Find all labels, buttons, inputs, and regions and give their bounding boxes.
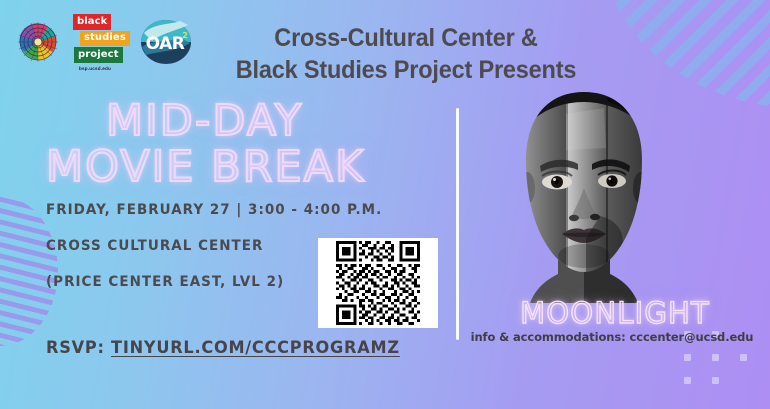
event-title-line-1: MID-DAY [44,100,444,144]
logo-row: black studies project bsp.ucsd.edu OAR 2 [12,14,192,71]
rsvp-qr-code[interactable] [318,238,438,328]
moonlight-poster-image [500,88,668,303]
svg-text:OAR: OAR [146,34,185,54]
page-title: Cross-Cultural Center & Black Studies Pr… [209,22,604,86]
header-line-1: Cross-Cultural Center & [209,22,604,54]
cross-cultural-center-logo [12,16,64,68]
bsp-url: bsp.ucsd.edu [79,66,111,71]
svg-text:2: 2 [182,31,188,40]
event-flyer: black studies project bsp.ucsd.edu OAR 2… [0,0,770,409]
film-title: MOONLIGHT [470,296,760,330]
portrait-illustration [500,88,668,303]
rsvp-line: RSVP: TINYURL.COM/CCCPROGRAMZ [46,338,400,358]
bsp-word-studies: studies [80,31,130,47]
vertical-divider [456,108,459,340]
event-title: MID-DAY MOVIE BREAK [44,100,444,190]
oar2-logo: OAR 2 [140,19,192,65]
accommodations-info: info & accommodations: cccenter@ucsd.edu [462,330,762,344]
event-title-line-2: MOVIE BREAK [44,146,444,190]
black-studies-project-logo: black studies project bsp.ucsd.edu [73,14,131,71]
bsp-word-black: black [73,14,111,30]
bsp-word-project: project [74,47,123,63]
header-line-2: Black Studies Project Presents [209,54,604,86]
event-datetime: FRIDAY, FEBRUARY 27 | 3:00 - 4:00 P.M. [46,202,382,218]
qr-code-icon [336,241,420,325]
rsvp-link[interactable]: TINYURL.COM/CCCPROGRAMZ [111,338,400,358]
rsvp-label: RSVP: [46,338,111,358]
